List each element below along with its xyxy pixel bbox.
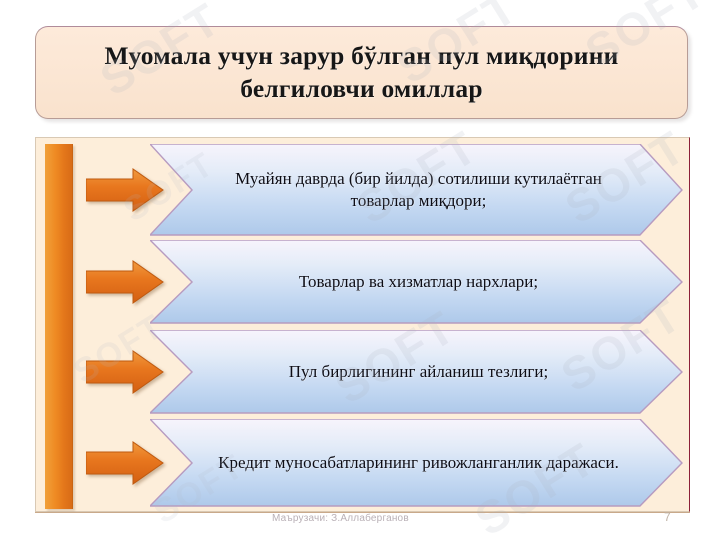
factor-row[interactable]: Кредит муносабатларининг ривожланганлик … [80,419,683,507]
factor-label: Товарлар ва хизматлар нархлари; [237,271,596,293]
content-panel: Муайян даврда (бир йилда) сотилиши кутил… [35,137,690,512]
factor-chevron[interactable]: Товарлар ва хизматлар нархлари; [150,240,683,324]
factor-chevron[interactable]: Муайян даврда (бир йилда) сотилиши кутил… [150,144,683,236]
footer-presenter-note: Маърузачи: З.Аллаберганов [272,513,409,524]
factor-row[interactable]: Муайян даврда (бир йилда) сотилиши кутил… [80,144,683,236]
factor-row[interactable]: Товарлар ва хизматлар нархлари; [80,240,683,324]
factor-label: Пул бирлигининг айланиш тезлиги; [227,361,606,383]
page-title: Муомала учун зарур бўлган пул миқдорини … [36,40,687,104]
factor-chevron[interactable]: Пул бирлигининг айланиш тезлиги; [150,330,683,414]
slide-title-box: Муомала учун зарур бўлган пул миқдорини … [35,26,688,119]
factor-label: Муайян даврда (бир йилда) сотилиши кутил… [150,168,683,211]
slide-canvas: SOFT SOFT SOFT SOFT SOFT SOFT SOFT SOFT … [0,0,720,540]
factor-chevron[interactable]: Кредит муносабатларининг ривожланганлик … [150,419,683,507]
vertical-accent-bar [45,144,73,509]
factor-row[interactable]: Пул бирлигининг айланиш тезлиги; [80,330,683,414]
slide-page-number: 7 [664,510,671,524]
factor-label: Кредит муносабатларининг ривожланганлик … [156,452,677,474]
